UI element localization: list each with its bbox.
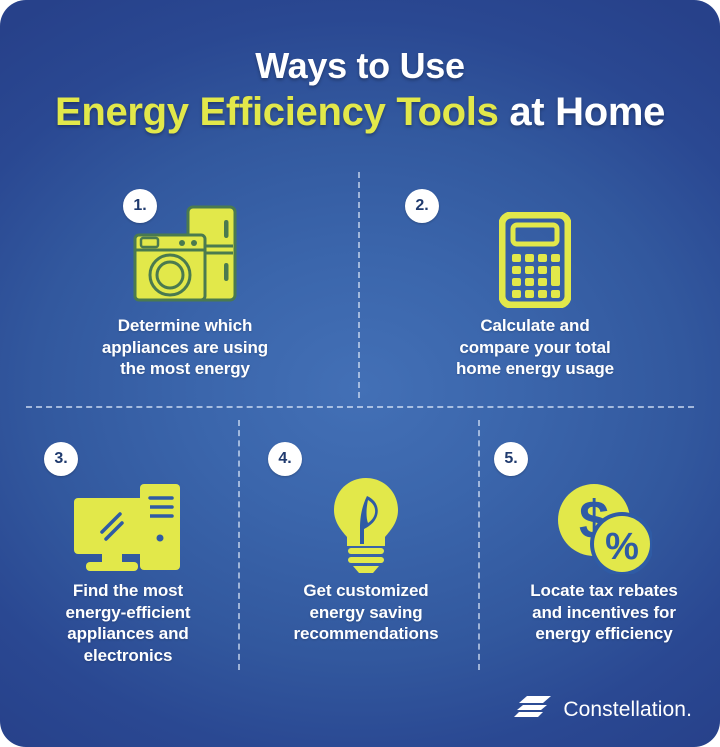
step-caption: Determine which appliances are using the…: [20, 315, 350, 380]
step-caption: Get customized energy saving recommendat…: [248, 580, 484, 645]
step-caption: Locate tax rebates and incentives for en…: [486, 580, 720, 645]
appliances-icon: [20, 198, 350, 308]
step-card-4: 4. Get customized energy saving recommen…: [248, 432, 484, 682]
divider-horizontal: [26, 406, 694, 408]
infographic-card: Ways to Use Energy Efficiency Tools at H…: [0, 0, 720, 747]
title-line-1: Ways to Use: [0, 44, 720, 88]
title-white-text: at Home: [499, 90, 666, 134]
svg-text:%: %: [605, 526, 639, 568]
calculator-icon: [370, 198, 700, 308]
step-caption: Calculate and compare your total home en…: [370, 315, 700, 380]
divider-vertical-top: [358, 172, 360, 398]
step-card-2: 2.: [370, 180, 700, 406]
brand-name: Constellation.: [563, 698, 692, 722]
title-line-2: Energy Efficiency Tools at Home: [0, 88, 720, 136]
title-accent-text: Energy Efficiency Tools: [55, 90, 499, 134]
page-title: Ways to Use Energy Efficiency Tools at H…: [0, 44, 720, 136]
footer-logo[interactable]: Constellation.: [513, 694, 692, 725]
step-caption: Find the most energy-efficient appliance…: [10, 580, 246, 666]
eco-lightbulb-icon: [248, 466, 484, 574]
step-card-5: 5. $ % Locate tax rebates and incentives…: [486, 432, 720, 682]
constellation-logo-mark-icon: [513, 694, 553, 725]
step-card-3: 3.: [10, 432, 246, 682]
coins-icon: $ %: [486, 466, 720, 574]
computer-icon: [10, 466, 246, 574]
step-card-1: 1. Deter: [20, 180, 350, 406]
